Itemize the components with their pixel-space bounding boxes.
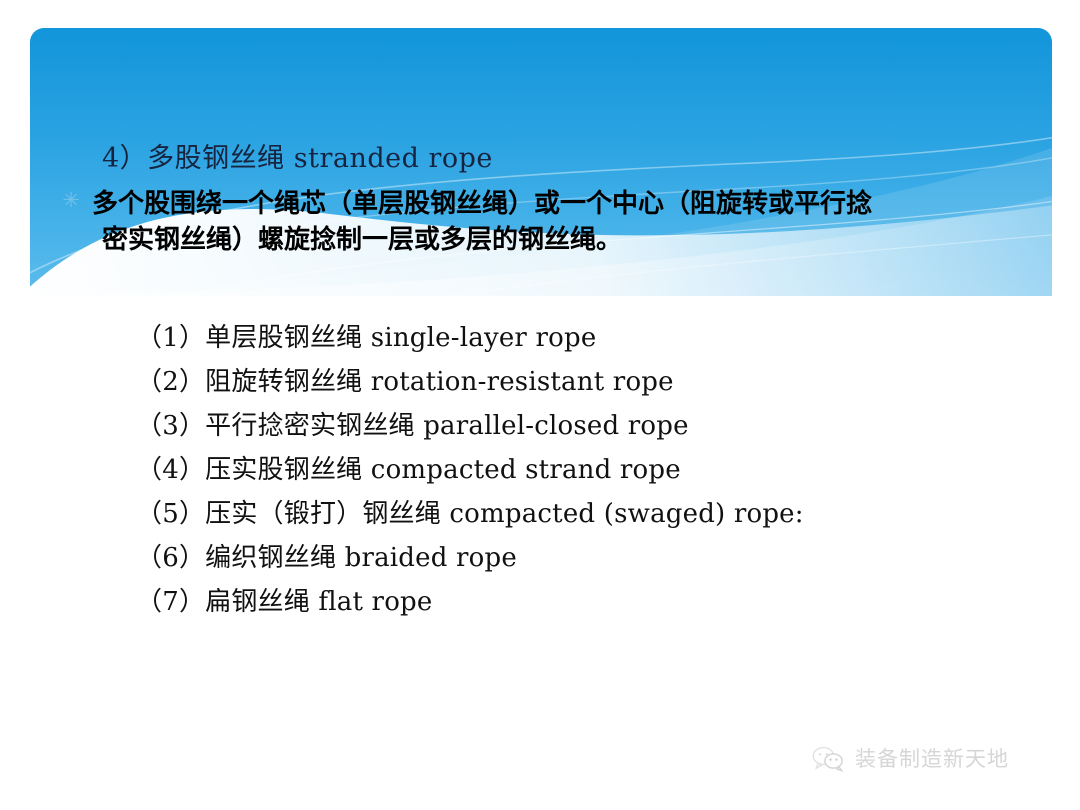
list-item: （6）编织钢丝绳 braided rope xyxy=(136,536,1036,580)
asterisk-bullet-icon: ✳ xyxy=(60,189,82,211)
definition-paragraph-line-2: 密实钢丝绳）螺旋捻制一层或多层的钢丝绳。 xyxy=(92,222,1052,258)
list-item: （7）扁钢丝绳 flat rope xyxy=(136,580,1036,624)
wechat-icon xyxy=(812,745,846,773)
definition-paragraph: 多个股围绕一个绳芯（单层股钢丝绳）或一个中心（阻旋转或平行捻 密实钢丝绳）螺旋捻… xyxy=(92,186,1052,258)
rope-type-list: （1）单层股钢丝绳 single-layer rope （2）阻旋转钢丝绳 ro… xyxy=(136,316,1036,624)
slide-heading: 4）多股钢丝绳 stranded rope xyxy=(102,142,493,176)
list-item: （1）单层股钢丝绳 single-layer rope xyxy=(136,316,1036,360)
list-item: （3）平行捻密实钢丝绳 parallel-closed rope xyxy=(136,404,1036,448)
definition-paragraph-line-1: 多个股围绕一个绳芯（单层股钢丝绳）或一个中心（阻旋转或平行捻 xyxy=(92,189,872,219)
watermark: 装备制造新天地 xyxy=(812,742,1009,776)
list-item: （4）压实股钢丝绳 compacted strand rope xyxy=(136,448,1036,492)
list-item: （5）压实（锻打）钢丝绳 compacted (swaged) rope: xyxy=(136,492,1036,536)
slide-canvas: ✳ 4）多股钢丝绳 stranded rope 多个股围绕一个绳芯（单层股钢丝绳… xyxy=(0,0,1080,810)
watermark-label: 装备制造新天地 xyxy=(855,747,1009,771)
list-item: （2）阻旋转钢丝绳 rotation-resistant rope xyxy=(136,360,1036,404)
